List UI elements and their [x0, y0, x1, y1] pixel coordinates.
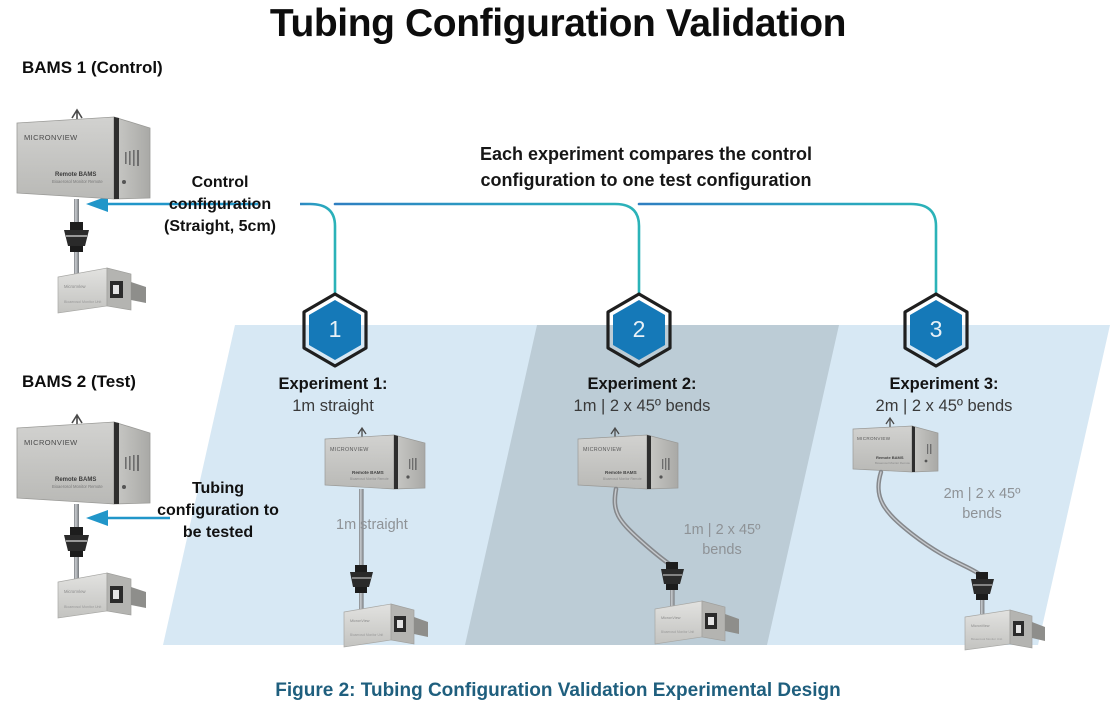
experiment-2-subtitle: 1m | 2 x 45º bends [522, 396, 762, 417]
experiment-2-tube-label: 1m | 2 x 45º bends [660, 520, 784, 560]
svg-text:Bioaerosol Monitor Unit: Bioaerosol Monitor Unit [350, 633, 383, 637]
svg-text:Remote BAMS: Remote BAMS [352, 470, 384, 475]
experiment-1-title: Experiment 1: [213, 374, 453, 395]
svg-text:Remote BAMS: Remote BAMS [55, 172, 96, 178]
experiment-2-tube-label-line-2: bends [660, 540, 784, 560]
control-config-annotation: Control configuration (Straight, 5cm) [140, 172, 300, 238]
hex-badge-3: 3 [901, 292, 971, 370]
experiment-3-tube-label-line-2: bends [920, 504, 1044, 524]
svg-text:Remote BAMS: Remote BAMS [55, 477, 96, 483]
device-bams2: MICRONVIEW Remote BAMS Bioaerosol Monito… [17, 415, 150, 618]
experiment-1-tube-label-line-1: 1m straight [336, 515, 476, 535]
hex-badge-1: 1 [300, 292, 370, 370]
experiment-3-subtitle: 2m | 2 x 45º bends [824, 396, 1064, 417]
experiment-2-tube-label-line-1: 1m | 2 x 45º [660, 520, 784, 540]
inline-connector-control [64, 222, 89, 252]
bams2-section-label: BAMS 2 (Test) [22, 372, 136, 392]
svg-text:Bioaerosol Monitor Remote: Bioaerosol Monitor Remote [52, 484, 103, 489]
svg-text:Remote BAMS: Remote BAMS [876, 455, 904, 460]
svg-text:Remote BAMS: Remote BAMS [605, 470, 637, 475]
svg-text:MICRONVIEW: MICRONVIEW [857, 436, 891, 441]
connector-branch-2 [335, 204, 639, 294]
callout-line-1: Each experiment compares the control [386, 141, 906, 167]
svg-text:Bioaerosol Monitor Remote: Bioaerosol Monitor Remote [603, 477, 642, 481]
svg-text:Bioaerosol Monitor Remote: Bioaerosol Monitor Remote [875, 461, 910, 465]
device-bams1: MICRONVIEW Remote BAMS Bioaerosol Monito… [17, 110, 150, 313]
figure-caption: Figure 2: Tubing Configuration Validatio… [0, 680, 1116, 702]
inline-connector-test [64, 527, 89, 557]
hex-badge-2-number: 2 [604, 292, 674, 370]
hex-badge-1-number: 1 [300, 292, 370, 370]
svg-text:MICRONVIEW: MICRONVIEW [330, 447, 369, 453]
svg-text:MicronView: MicronView [64, 284, 87, 289]
experiment-3-title: Experiment 3: [824, 374, 1064, 395]
svg-text:Bioaerosol Monitor Unit: Bioaerosol Monitor Unit [971, 637, 1002, 641]
svg-text:MICRONVIEW: MICRONVIEW [583, 447, 622, 453]
bams1-section-label: BAMS 1 (Control) [22, 58, 163, 78]
svg-text:MicronView: MicronView [661, 616, 681, 620]
experiment-2-title: Experiment 2: [522, 374, 762, 395]
svg-text:MicronView: MicronView [64, 589, 87, 594]
experiment-1-tube-label: 1m straight [336, 515, 476, 535]
svg-text:Bioaerosol Monitor Remote: Bioaerosol Monitor Remote [350, 477, 389, 481]
small-device-test: MicronView Bioaerosol Monitor Unit [58, 573, 146, 618]
experiment-1-subtitle: 1m straight [213, 396, 453, 417]
svg-text:Bioaerosol Monitor Unit: Bioaerosol Monitor Unit [64, 605, 101, 609]
svg-text:MicronView: MicronView [971, 624, 990, 628]
svg-text:MICRONVIEW: MICRONVIEW [24, 133, 78, 142]
hex-badge-2: 2 [604, 292, 674, 370]
experiment-3-tube-label-line-1: 2m | 2 x 45º [920, 484, 1044, 504]
experiment-3-tube-label: 2m | 2 x 45º bends [920, 484, 1044, 524]
svg-text:Bioaerosol Monitor Unit: Bioaerosol Monitor Unit [661, 630, 694, 634]
callout-line-2: configuration to one test configuration [386, 167, 906, 193]
hex-badge-3-number: 3 [901, 292, 971, 370]
connector-branch-3 [639, 204, 936, 294]
svg-text:Bioaerosol Monitor Unit: Bioaerosol Monitor Unit [64, 300, 101, 304]
svg-text:Bioaerosol Monitor Remote: Bioaerosol Monitor Remote [52, 179, 103, 184]
svg-text:MicronView: MicronView [350, 619, 370, 623]
test-config-annotation: Tubing configuration to be tested [150, 478, 286, 544]
svg-text:MICRONVIEW: MICRONVIEW [24, 438, 78, 447]
figure-canvas: MICRONVIEW Remote BAMS Bioaerosol Monito… [0, 0, 1116, 720]
callout-note: Each experiment compares the control con… [386, 141, 906, 193]
page-title: Tubing Configuration Validation [0, 0, 1116, 46]
small-device-control: MicronView Bioaerosol Monitor Unit [58, 268, 146, 313]
connector-trunk-right [295, 204, 335, 294]
